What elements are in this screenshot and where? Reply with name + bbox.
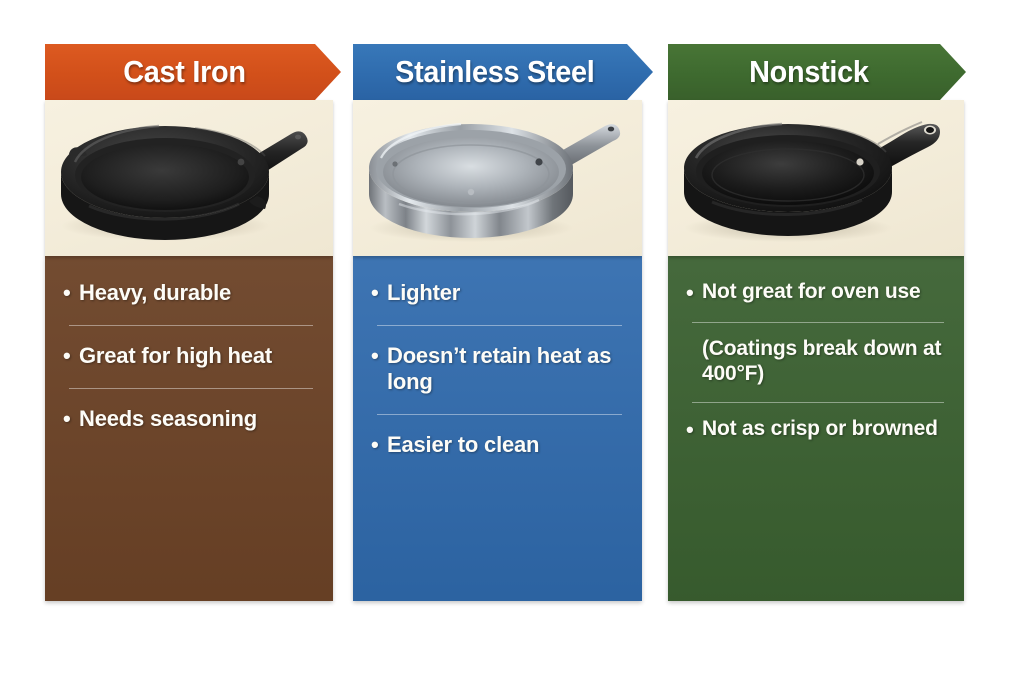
list-item-text: Great for high heat xyxy=(79,343,319,369)
bullet-dot-icon: • xyxy=(371,343,385,369)
list-item: • Heavy, durable xyxy=(59,278,319,308)
column-title-cast-iron: Cast Iron xyxy=(123,54,262,90)
list-item-text: Not great for oven use xyxy=(702,280,950,305)
column-banner-stainless-steel: Stainless Steel xyxy=(353,44,653,100)
list-divider xyxy=(69,325,313,326)
list-item-text: Heavy, durable xyxy=(79,280,319,306)
list-item-text: Needs seasoning xyxy=(79,406,319,432)
nonstick-pan-icon xyxy=(668,100,964,256)
column-banner-cast-iron: Cast Iron xyxy=(45,44,341,100)
list-divider xyxy=(69,388,313,389)
bullet-dot-icon: • xyxy=(63,280,77,306)
list-item-text: (Coatings break down at 400°F) xyxy=(702,337,950,387)
list-item-text: Easier to clean xyxy=(387,432,628,458)
column-title-stainless-steel: Stainless Steel xyxy=(395,54,611,90)
comparison-column-stainless-steel: Stainless Steel xyxy=(353,44,642,601)
bullet-dot-icon: • xyxy=(371,432,385,458)
feature-list-stainless-steel: • Lighter • Doesn’t retain heat as long … xyxy=(353,256,642,601)
list-divider xyxy=(377,414,622,415)
list-item: • Needs seasoning xyxy=(59,404,319,434)
list-item-text: Not as crisp or browned xyxy=(702,417,950,442)
list-item: • Not as crisp or browned xyxy=(682,415,950,445)
feature-list-cast-iron: • Heavy, durable • Great for high heat •… xyxy=(45,256,333,601)
comparison-column-nonstick: Nonstick xyxy=(668,44,964,601)
bullet-dot-icon: • xyxy=(63,406,77,432)
list-divider xyxy=(377,325,622,326)
list-item: • Doesn’t retain heat as long xyxy=(367,341,628,397)
list-item-text: Doesn’t retain heat as long xyxy=(387,343,628,395)
column-banner-nonstick: Nonstick xyxy=(668,44,966,100)
stainless-steel-pan-icon xyxy=(353,100,642,256)
list-item: • Great for high heat xyxy=(59,341,319,371)
list-item: • Lighter xyxy=(367,278,628,308)
photo-panel-stainless-steel xyxy=(353,100,642,256)
column-title-nonstick: Nonstick xyxy=(749,54,885,90)
bullet-dot-icon: • xyxy=(686,280,700,306)
bullet-dot-icon: • xyxy=(63,343,77,369)
list-divider xyxy=(692,402,944,403)
bullet-list: • Not great for oven use (Coatings break… xyxy=(682,278,950,445)
cast-iron-skillet-icon xyxy=(45,100,333,256)
infographic-board: Cast Iron xyxy=(0,0,1024,683)
bullet-dot-icon: • xyxy=(686,417,700,443)
list-item-note: (Coatings break down at 400°F) xyxy=(682,335,950,389)
photo-panel-nonstick xyxy=(668,100,964,256)
feature-list-nonstick: • Not great for oven use (Coatings break… xyxy=(668,256,964,601)
bullet-list: • Heavy, durable • Great for high heat •… xyxy=(59,278,319,434)
photo-panel-cast-iron xyxy=(45,100,333,256)
bullet-list: • Lighter • Doesn’t retain heat as long … xyxy=(367,278,628,460)
list-item: • Not great for oven use xyxy=(682,278,950,308)
bullet-dot-icon: • xyxy=(371,280,385,306)
list-item-text: Lighter xyxy=(387,280,628,306)
list-divider xyxy=(692,322,944,323)
list-item: • Easier to clean xyxy=(367,430,628,460)
comparison-column-cast-iron: Cast Iron xyxy=(45,44,333,601)
